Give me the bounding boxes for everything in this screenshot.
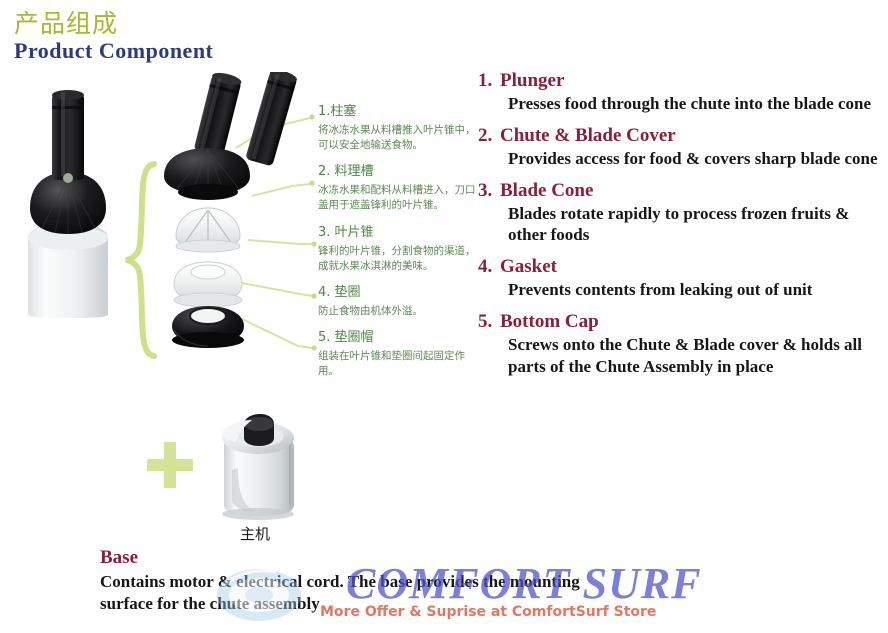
assembled-blender-image bbox=[8, 88, 138, 318]
english-callout-list: 1. Plunger Presses food through the chut… bbox=[478, 68, 880, 386]
english-callout-heading: Chute & Blade Cover bbox=[500, 123, 880, 148]
chinese-callout-item: 5. 垫圈帽 组装在叶片锥和垫圈间起固定作用。 bbox=[318, 330, 483, 379]
chinese-callout-heading: 2. 料理槽 bbox=[318, 164, 483, 181]
chinese-callout-desc: 锋利的叶片锥，分割食物的渠道，成就水果冰淇淋的美味。 bbox=[318, 244, 483, 274]
english-callout-heading: Blade Cone bbox=[500, 178, 880, 203]
english-callout-number: 1. bbox=[478, 68, 500, 115]
english-callout-heading: Gasket bbox=[500, 254, 880, 279]
motor-base-unit-image bbox=[200, 408, 310, 523]
english-callout-item: 3. Blade Cone Blades rotate rapidly to p… bbox=[478, 178, 880, 247]
english-callout-heading: Bottom Cap bbox=[500, 309, 880, 334]
chinese-callout-list: 1.柱塞 将冰冻水果从料槽推入叶片锥中，可以安全地输送食物。 2. 料理槽 冰冻… bbox=[318, 104, 483, 390]
english-callout-item: 2. Chute & Blade Cover Provides access f… bbox=[478, 123, 880, 170]
english-callout-number: 4. bbox=[478, 254, 500, 301]
chinese-callout-desc: 组装在叶片锥和垫圈间起固定作用。 bbox=[318, 349, 483, 379]
base-description: Contains motor & electrical cord. The ba… bbox=[100, 571, 600, 615]
english-callout-desc: Prevents contents from leaking out of un… bbox=[500, 279, 880, 301]
base-heading: Base bbox=[100, 546, 600, 571]
english-callout-item: 1. Plunger Presses food through the chut… bbox=[478, 68, 880, 115]
chinese-callout-heading: 5. 垫圈帽 bbox=[318, 330, 483, 347]
english-callout-desc: Blades rotate rapidly to process frozen … bbox=[500, 203, 880, 247]
english-callout-desc: Screws onto the Chute & Blade cover & ho… bbox=[500, 334, 880, 378]
base-unit-caption: 主机 bbox=[200, 523, 310, 544]
product-component-infographic: 产品组成 Product Component bbox=[0, 0, 888, 633]
english-callout-body: Plunger Presses food through the chute i… bbox=[500, 68, 880, 115]
base-description-block: Base Contains motor & electrical cord. T… bbox=[100, 546, 600, 615]
chinese-callout-desc: 防止食物由机体外溢。 bbox=[318, 304, 483, 319]
chinese-callout-heading: 3. 叶片锥 bbox=[318, 225, 483, 242]
english-callout-desc: Provides access for food & covers sharp … bbox=[500, 148, 880, 170]
english-callout-body: Blade Cone Blades rotate rapidly to proc… bbox=[500, 178, 880, 247]
english-callout-number: 2. bbox=[478, 123, 500, 170]
exploded-parts-image bbox=[150, 72, 310, 402]
english-callout-body: Chute & Blade Cover Provides access for … bbox=[500, 123, 880, 170]
chinese-callout-desc: 冰冻水果和配料从料槽进入，刀口盖用于遮盖锋利的叶片锥。 bbox=[318, 183, 483, 213]
chinese-callout-item: 4. 垫圈 防止食物由机体外溢。 bbox=[318, 285, 483, 319]
chinese-callout-item: 1.柱塞 将冰冻水果从料槽推入叶片锥中，可以安全地输送食物。 bbox=[318, 104, 483, 153]
english-callout-desc: Presses food through the chute into the … bbox=[500, 93, 880, 115]
english-callout-heading: Plunger bbox=[500, 68, 880, 93]
english-callout-body: Gasket Prevents contents from leaking ou… bbox=[500, 254, 880, 301]
english-callout-item: 5. Bottom Cap Screws onto the Chute & Bl… bbox=[478, 309, 880, 378]
english-callout-item: 4. Gasket Prevents contents from leaking… bbox=[478, 254, 880, 301]
plus-icon bbox=[145, 440, 195, 490]
chinese-callout-heading: 4. 垫圈 bbox=[318, 285, 483, 302]
chinese-callout-item: 2. 料理槽 冰冻水果和配料从料槽进入，刀口盖用于遮盖锋利的叶片锥。 bbox=[318, 164, 483, 213]
chinese-callout-heading: 1.柱塞 bbox=[318, 104, 483, 121]
chinese-callout-item: 3. 叶片锥 锋利的叶片锥，分割食物的渠道，成就水果冰淇淋的美味。 bbox=[318, 225, 483, 274]
english-callout-number: 5. bbox=[478, 309, 500, 378]
english-callout-body: Bottom Cap Screws onto the Chute & Blade… bbox=[500, 309, 880, 378]
english-callout-number: 3. bbox=[478, 178, 500, 247]
chinese-callout-desc: 将冰冻水果从料槽推入叶片锥中，可以安全地输送食物。 bbox=[318, 123, 483, 153]
